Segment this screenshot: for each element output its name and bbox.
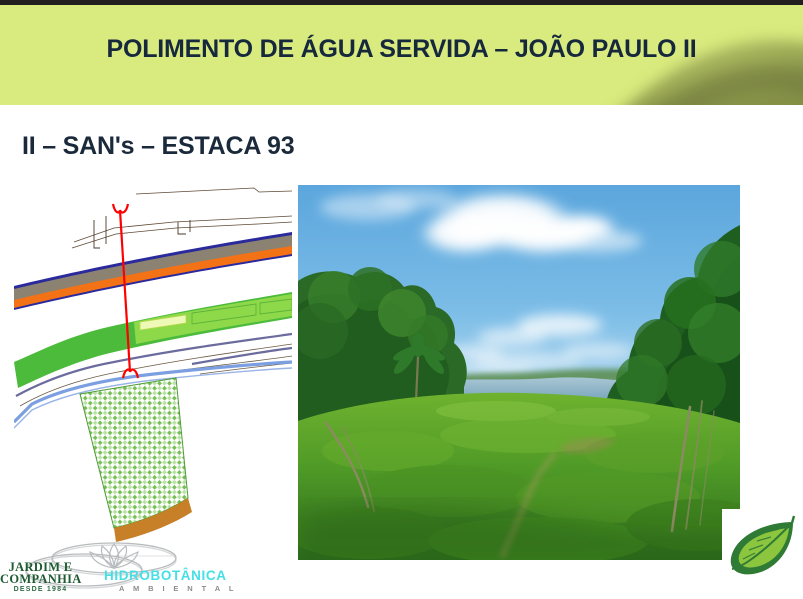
measurement-arrow — [113, 204, 138, 378]
jardim-line-2: COMPANHIA — [0, 572, 81, 587]
site-plan-diagram: SAN - 3.500,00m² — [14, 182, 292, 572]
title-banner: POLIMENTO DE ÁGUA SERVIDA – JOÃO PAULO I… — [0, 5, 803, 105]
jardim-line-3: DESDE 1984 — [0, 586, 81, 593]
page-title: POLIMENTO DE ÁGUA SERVIDA – JOÃO PAULO I… — [0, 35, 803, 64]
jardim-companhia-logo — [722, 509, 803, 599]
site-photograph — [298, 185, 740, 560]
hidrobotanica-wordmark: HIDROBOTÂNICA — [104, 568, 227, 583]
san-polygon-hatch — [80, 378, 188, 528]
section-subtitle: II – SAN's – ESTACA 93 — [22, 132, 294, 161]
survey-brackets — [94, 216, 190, 248]
hidrobotanica-tagline: A M B I E N T A L — [119, 584, 237, 593]
slide-canvas: POLIMENTO DE ÁGUA SERVIDA – JOÃO PAULO I… — [0, 0, 803, 599]
